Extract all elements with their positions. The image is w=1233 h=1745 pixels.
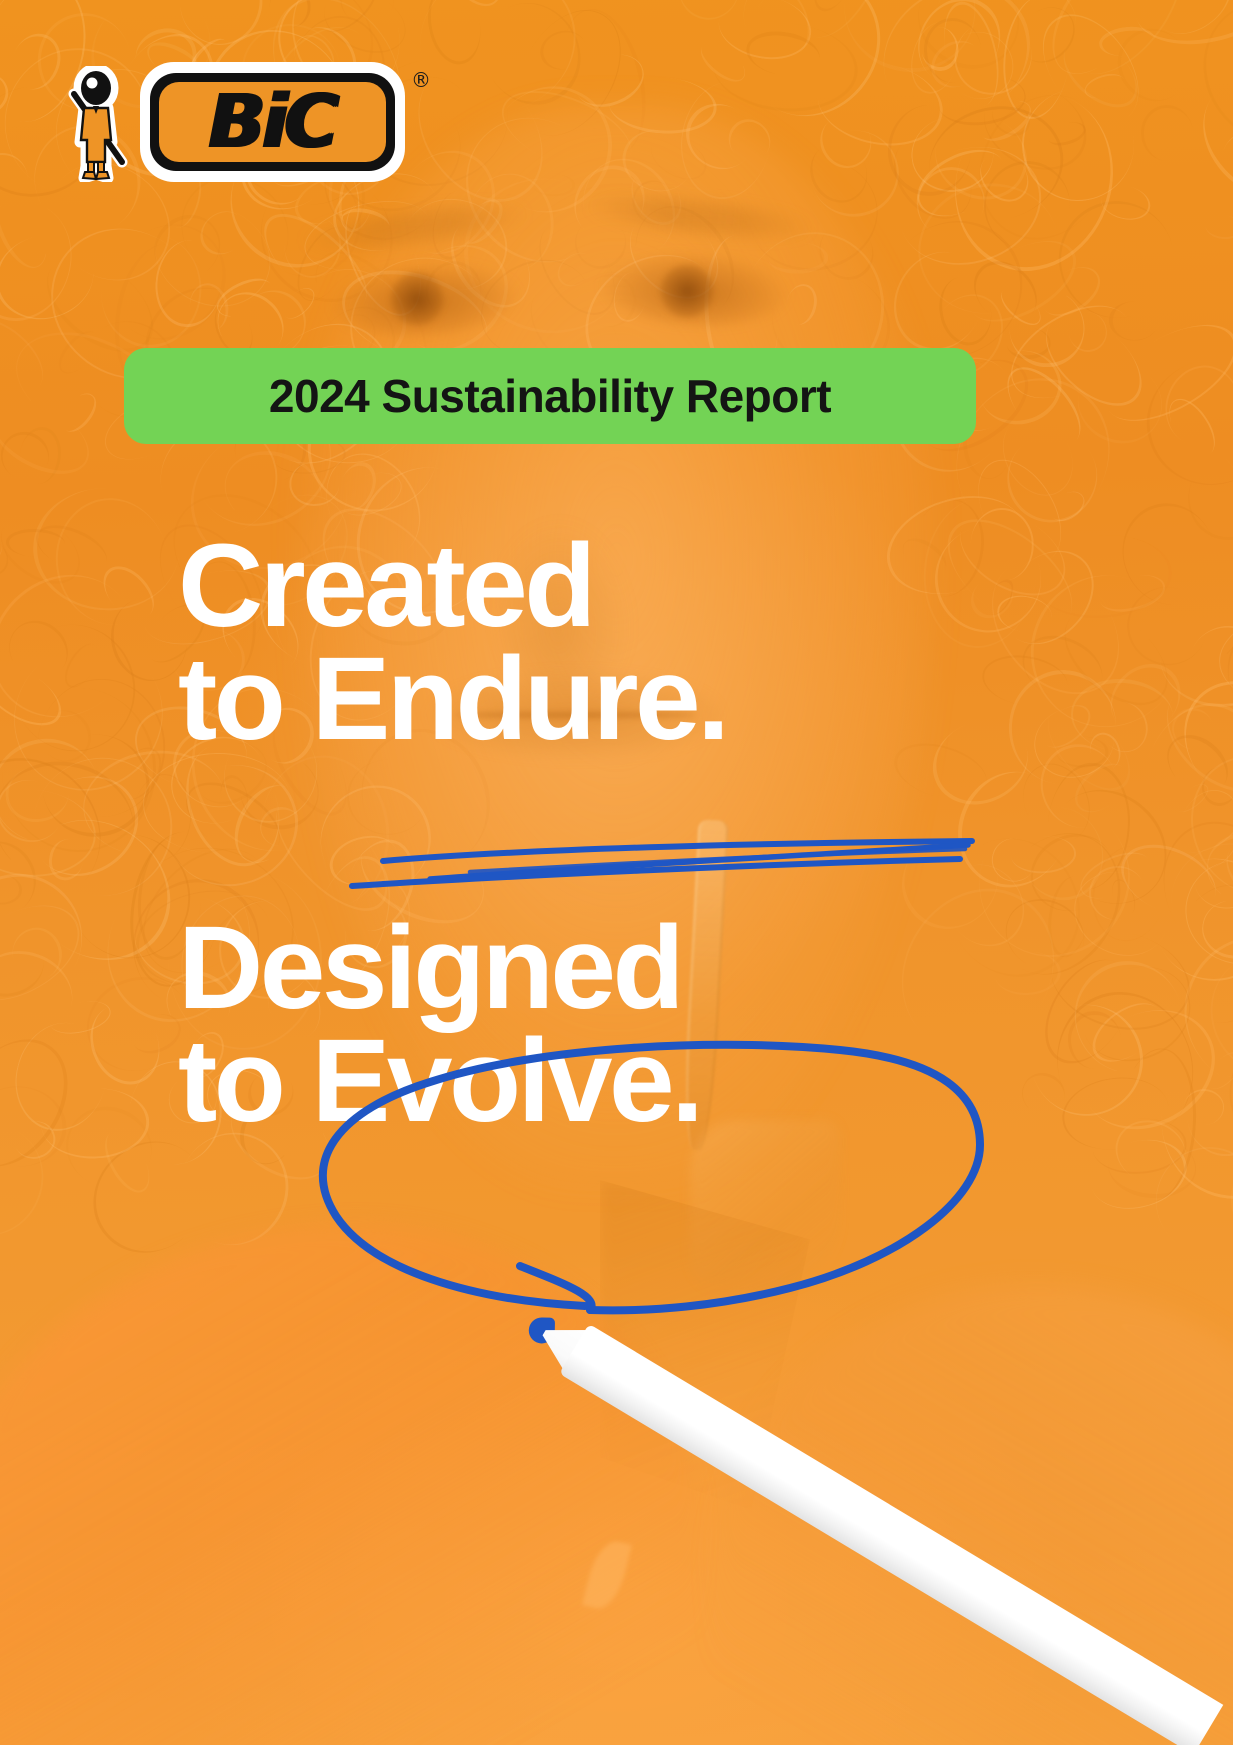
headline-line-created: Created	[178, 530, 1078, 643]
bic-logo[interactable]: BiC ®	[60, 62, 405, 182]
headline-line-designed: Designed	[178, 912, 1078, 1025]
report-title-text: 2024 Sustainability Report	[269, 369, 831, 423]
registered-trademark-icon: ®	[411, 68, 431, 92]
iris-right	[660, 264, 714, 318]
bic-wordmark: BiC	[159, 85, 386, 159]
bic-boy-mascot-icon	[60, 66, 150, 182]
bic-logo-pill: BiC ®	[140, 62, 405, 182]
headline-block-designed-to-evolve: Designed to Evolve.	[178, 912, 1078, 1139]
headline-group: Created to Endure. Designed to Evolve.	[178, 530, 1078, 1138]
report-cover-page: BiC ® 2024 Sustainability Report Created…	[0, 0, 1233, 1745]
headline-block-created-to-endure: Created to Endure.	[178, 530, 1078, 757]
headline-line-to-evolve: to Evolve.	[178, 1025, 1078, 1138]
iris-left	[390, 272, 444, 326]
report-title-banner: 2024 Sustainability Report	[124, 348, 976, 444]
bic-logo-pill-fill: BiC	[159, 82, 386, 162]
bic-logo-pill-border: BiC	[150, 73, 395, 171]
headline-line-to-endure: to Endure.	[178, 643, 1078, 756]
